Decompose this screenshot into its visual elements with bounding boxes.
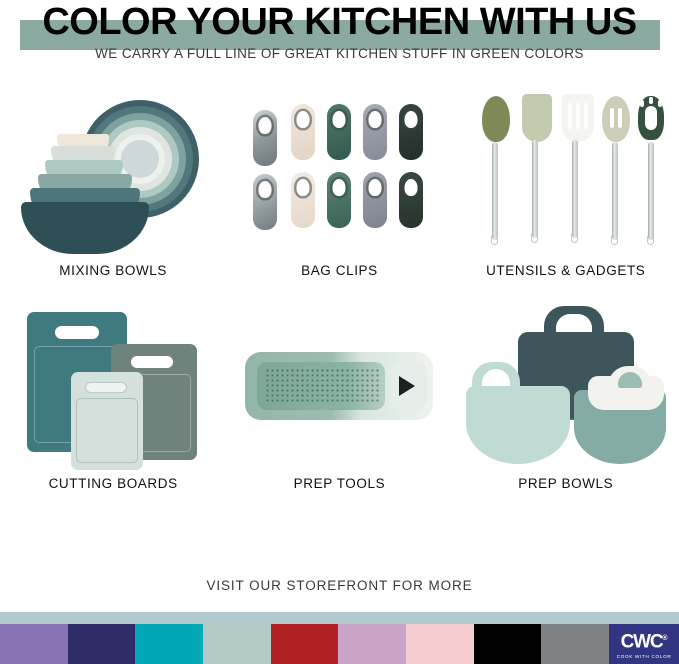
page-title: COLOR YOUR KITCHEN WITH US [0,0,679,44]
category-row: MIXING BOWLS BAG CLIPS [0,82,679,278]
logo-wordmark: CWC® [621,629,668,651]
prep-tools-image [239,300,439,470]
swatch-gray [541,624,609,664]
category-prep-bowls[interactable]: PREP BOWLS [453,300,679,491]
bag-clips-image [239,82,439,257]
category-label: PREP TOOLS [294,476,386,491]
category-grid: MIXING BOWLS BAG CLIPS [0,82,679,491]
mixing-bowls-image [13,82,213,257]
category-row: CUTTING BOARDS PREP TOOLS [0,300,679,491]
category-cutting-boards[interactable]: CUTTING BOARDS [0,300,226,491]
prep-bowls-image [466,300,666,470]
registered-trademark-icon: ® [662,635,667,642]
swatch-black [474,624,542,664]
cutting-boards-image [13,300,213,470]
swatch-blush-pink [406,624,474,664]
category-label: CUTTING BOARDS [49,476,178,491]
category-prep-tools[interactable]: PREP TOOLS [226,300,452,491]
category-label: UTENSILS & GADGETS [486,263,645,278]
swatch-teal [135,624,203,664]
swatch-mauve [338,624,406,664]
page-subtitle: WE CARRY A FULL LINE OF GREAT KITCHEN ST… [0,46,679,61]
category-label: BAG CLIPS [301,263,378,278]
logo-mark-text: CWC [621,632,663,653]
brand-logo[interactable]: CWC® COOK WITH COLOR [609,624,679,664]
logo-tagline: COOK WITH COLOR [617,654,672,659]
category-bag-clips[interactable]: BAG CLIPS [226,82,452,278]
utensils-gadgets-image [466,82,666,257]
storefront-cta[interactable]: VISIT OUR STOREFRONT FOR MORE [0,578,679,593]
thin-accent-band [0,612,679,624]
header: COLOR YOUR KITCHEN WITH US WE CARRY A FU… [0,0,679,78]
color-swatch-strip: CWC® COOK WITH COLOR [0,624,679,664]
category-mixing-bowls[interactable]: MIXING BOWLS [0,82,226,278]
swatch-navy [68,624,136,664]
swatch-purple [0,624,68,664]
swatch-red [271,624,339,664]
category-label: MIXING BOWLS [59,263,167,278]
category-label: PREP BOWLS [518,476,613,491]
category-utensils-gadgets[interactable]: UTENSILS & GADGETS [453,82,679,278]
swatch-sage [203,624,271,664]
